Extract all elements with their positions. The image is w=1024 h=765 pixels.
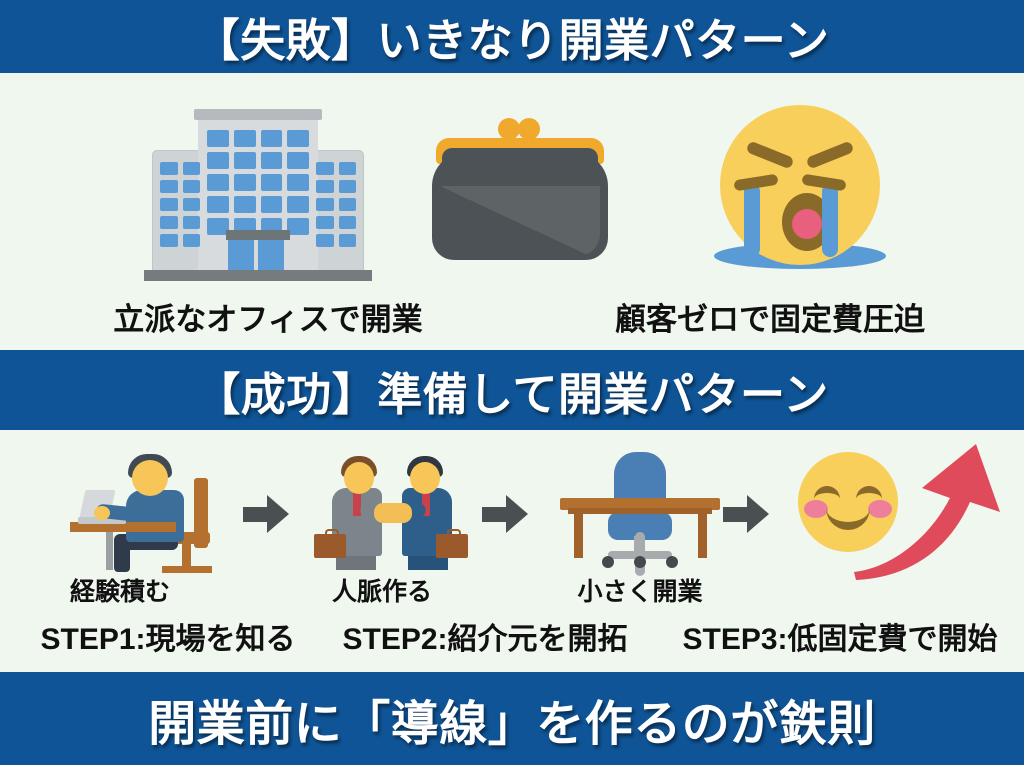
chair-caster-left xyxy=(602,556,614,568)
step2-label: STEP2:紹介元を開拓 xyxy=(320,614,650,658)
crying-brow-right xyxy=(805,140,854,169)
building-left-windows xyxy=(160,162,200,247)
purse-opening xyxy=(442,148,598,168)
smile-mouth xyxy=(826,506,870,530)
building-door-right xyxy=(258,240,284,271)
smiling-face-circle xyxy=(798,452,898,552)
building-core-windows xyxy=(207,130,309,235)
building-door-left xyxy=(228,240,254,271)
handshake-businessmen-icon xyxy=(312,448,472,570)
tear-stream-right xyxy=(822,185,838,257)
chair-base-cross xyxy=(635,532,645,576)
purse-clasp-knob-right xyxy=(518,118,540,140)
person-head xyxy=(132,460,168,496)
building-roof xyxy=(194,109,322,120)
desk-leg-left xyxy=(574,510,583,558)
person-shin xyxy=(114,542,130,572)
step3-short-label: 小さく開業 xyxy=(530,572,750,608)
step1-label: STEP1:現場を知る xyxy=(8,614,328,658)
crying-brow-left xyxy=(745,140,794,169)
smile-eye-right xyxy=(856,486,882,500)
failure-banner-title: 【失敗】いきなり開業パターン xyxy=(195,4,830,69)
desk-leg xyxy=(106,532,113,570)
person-hand xyxy=(94,506,110,520)
smiling-face-icon xyxy=(798,452,898,552)
footer-banner: 開業前に「導線」を作るのが鉄則 xyxy=(0,672,1024,765)
step-arrow-2-icon xyxy=(482,495,528,533)
person2-briefcase xyxy=(436,534,468,558)
chair-caster-center xyxy=(634,556,646,568)
caption-office: 立派なオフィスで開業 xyxy=(58,294,478,339)
step2-short-label: 人脈作る xyxy=(292,572,472,608)
person1-head xyxy=(344,462,374,494)
purse-body xyxy=(432,152,608,260)
person1-briefcase xyxy=(314,534,346,558)
smile-cheek-right xyxy=(868,500,892,518)
loudly-crying-face-icon xyxy=(712,105,888,281)
person2-head xyxy=(410,462,440,494)
purse-icon xyxy=(430,118,610,268)
infographic-root: 【失敗】いきなり開業パターン xyxy=(0,0,1024,765)
building-entrance-canopy xyxy=(226,230,290,240)
step-arrow-1-icon xyxy=(243,495,289,533)
step1-short-label: 経験積む xyxy=(20,572,220,608)
step-arrow-3-icon xyxy=(723,495,769,533)
tear-stream-left xyxy=(744,185,760,257)
chair-caster-right xyxy=(666,556,678,568)
smile-eye-left xyxy=(814,486,840,500)
purse-clasp-knob-left xyxy=(498,118,520,140)
smile-cheek-left xyxy=(804,500,828,518)
footer-banner-title: 開業前に「導線」を作るのが鉄則 xyxy=(148,684,876,754)
desk-and-chair-icon xyxy=(560,450,720,570)
office-building-icon xyxy=(152,108,364,280)
desk-apron xyxy=(568,508,712,514)
clasped-hands xyxy=(374,503,412,523)
caption-fixed-cost: 顧客ゼロで固定費圧迫 xyxy=(560,294,980,339)
success-banner-title: 【成功】準備して開業パターン xyxy=(195,358,828,423)
building-base xyxy=(144,270,372,281)
building-right-windows xyxy=(316,162,356,247)
man-at-computer-icon xyxy=(70,448,240,570)
step3-label: STEP3:低固定費で開始 xyxy=(660,614,1020,658)
success-banner: 【成功】準備して開業パターン xyxy=(0,350,1024,430)
failure-banner: 【失敗】いきなり開業パターン xyxy=(0,0,1024,73)
crying-tongue xyxy=(792,209,822,239)
desk-leg-right xyxy=(698,510,707,558)
